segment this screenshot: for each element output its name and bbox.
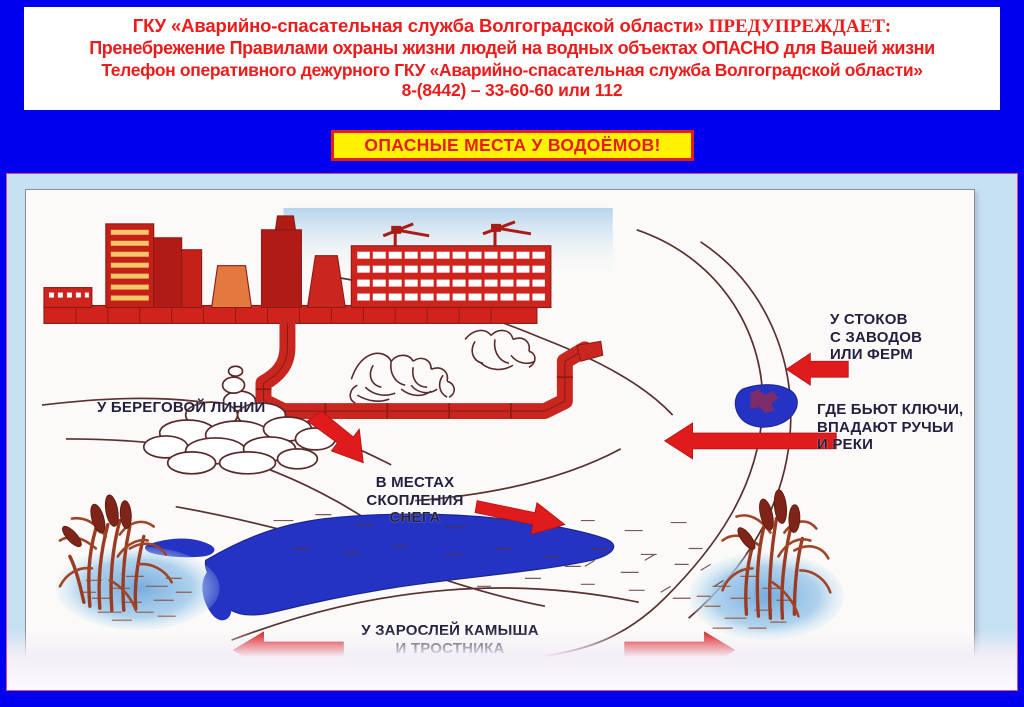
label-outfalls: У СТОКОВ С ЗАВОДОВ ИЛИ ФЕРМ (830, 311, 922, 364)
danger-places-banner: ОПАСНЫЕ МЕСТА У ВОДОЁМОВ! (331, 130, 694, 161)
discharge-pipe-icon (256, 323, 603, 419)
arrow-right-icon (625, 632, 735, 658)
arrow-left-icon (234, 632, 344, 658)
danger-places-banner-text: ОПАСНЫЕ МЕСТА У ВОДОЁМОВ! (364, 135, 660, 156)
shrub-icon (350, 330, 535, 403)
label-springs: ГДЕ БЬЮТ КЛЮЧИ, ВПАДАЮТ РУЧЬИ И РЕКИ (817, 401, 963, 454)
label-shoreline: У БЕРЕГОВОЙ ЛИНИИ (97, 399, 265, 417)
warning-banner: ГКУ «Аварийно-спасательная служба Волгог… (24, 7, 1000, 110)
arrow-left-icon (665, 423, 837, 459)
warning-line-1: ГКУ «Аварийно-спасательная служба Волгог… (133, 16, 892, 37)
emergency-phone-number: 8-(8442) – 33-60-60 или 112 (402, 81, 623, 99)
warning-line-3: Телефон оперативного дежурного ГКУ «Авар… (101, 61, 922, 79)
label-reeds: У ЗАРОСЛЕЙ КАМЫША И ТРОСТНИКА (341, 622, 559, 657)
warning-line-1-emphasis: ПРЕДУПРЕЖДАЕТ: (709, 16, 892, 37)
reeds-icon (689, 489, 845, 640)
pipe-outfall-icon (735, 385, 797, 427)
label-snow: В МЕСТАХ СКОПЛЕНИЯ СНЕГА (353, 474, 477, 527)
reeds-icon (56, 494, 220, 630)
warning-line-2: Пренебрежение Правилами охраны жизни люд… (89, 39, 935, 58)
poster-frame: У СТОКОВ С ЗАВОДОВ ИЛИ ФЕРМ ГДЕ БЬЮТ КЛЮ… (6, 173, 1018, 691)
warning-line-1-main: ГКУ «Аварийно-спасательная служба Волгог… (133, 15, 704, 36)
snow-drift-icon (144, 366, 336, 474)
